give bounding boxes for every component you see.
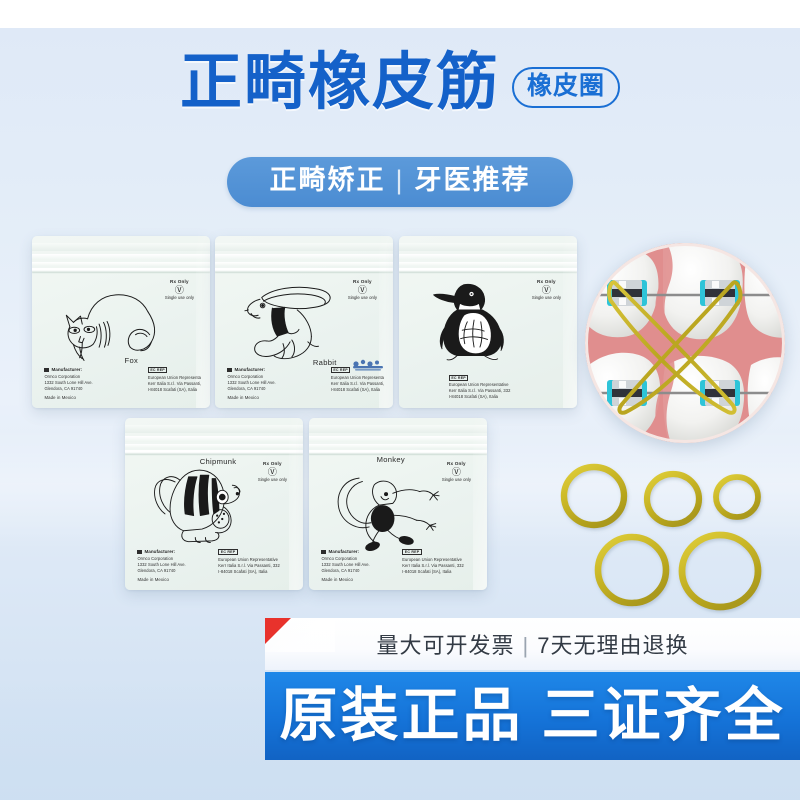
promo-strip: 量大可开发票|7天无理由退换 <box>265 618 800 670</box>
factory-icon <box>321 550 326 554</box>
elastic-band-4 <box>598 537 666 603</box>
bottom-banner: 原装正品三证齐全 <box>265 672 800 760</box>
ec-rep-heading: EC REP <box>148 367 201 373</box>
subtitle-pill: 正畸矫正|牙医推荐 <box>227 157 572 207</box>
fox-illustration <box>43 278 182 362</box>
elastic-bands-group <box>560 455 800 620</box>
title-badge: 橡皮圈 <box>512 67 620 108</box>
packet-monkey[interactable]: Rx Only Ⓥ Single use only <box>309 418 487 590</box>
subtitle-left-text: 正畸矫正 <box>269 165 385 195</box>
eu-rep-line-2: I-84018 Scafati (SA), Italia <box>449 394 570 400</box>
manufacturer-heading: Manufacturer: <box>137 549 213 554</box>
penguin-illustration <box>417 278 534 362</box>
manufacturer-line-3: Glendora, CA 91740 <box>137 568 213 574</box>
fineprint-monkey: Manufacturer: Ormco Corporation 1332 Sou… <box>321 549 478 581</box>
ec-rep-heading: EC REP <box>402 549 478 555</box>
factory-icon <box>44 368 49 372</box>
subtitle-right-text: 牙医推荐 <box>415 165 531 195</box>
bottom-banner-right: 三证齐全 <box>542 683 786 748</box>
made-in-label: Made in Mexico <box>227 395 325 400</box>
ec-rep-heading: EC REP <box>218 549 294 555</box>
manufacturer-line-3: Glendora, CA 91740 <box>321 568 397 574</box>
made-in-label: Made in Mexico <box>321 577 397 582</box>
headline-row: 正畸橡皮筋 橡皮圈 <box>180 52 620 114</box>
corner-accent-icon <box>265 618 291 644</box>
elastic-band-3 <box>716 477 758 517</box>
ec-rep-badge: EC REP <box>449 375 469 381</box>
subtitle-separator: | <box>385 165 414 195</box>
packet-face: Rx Only Ⓥ Single use only <box>399 272 577 408</box>
chipmunk-illustration <box>136 460 275 544</box>
manufacturer-column: Manufacturer: Ormco Corporation 1332 Sou… <box>321 549 397 581</box>
packet-face: Rx Only Ⓥ Single use only <box>309 454 487 590</box>
fineprint-penguin: EC REP European Union Representative Ker… <box>449 375 570 400</box>
eu-rep-column: EC REP European Union Representative Ker… <box>402 549 478 574</box>
eu-rep-column: EC REP European Union Representative Ker… <box>449 375 570 400</box>
manufacturer-heading: Manufacturer: <box>321 549 397 554</box>
eu-rep-line-2: I-84018 Scafati (SA), Italia <box>218 569 294 575</box>
promo-right-text: 7天无理由退换 <box>537 633 688 658</box>
animal-name-fox: Fox <box>125 356 139 365</box>
fineprint-chipmunk: Manufacturer: Ormco Corporation 1332 Sou… <box>137 549 294 581</box>
manufacturer-column: Manufacturer: Ormco Corporation 1332 Sou… <box>227 367 325 399</box>
factory-icon <box>137 550 142 554</box>
fineprint-rabbit: Manufacturer: Ormco Corporation 1332 Sou… <box>227 367 384 399</box>
product-ad-canvas: 正畸橡皮筋 橡皮圈 正畸矫正|牙医推荐 Rx Only Ⓥ Single use… <box>0 0 800 800</box>
packet-face: Rx Only Ⓥ Single use only <box>125 454 303 590</box>
manufacturer-column: Manufacturer: Ormco Corporation 1332 Sou… <box>44 367 142 399</box>
top-white-strip <box>0 0 800 30</box>
promo-separator: | <box>515 633 538 658</box>
animal-name-chipmunk: Chipmunk <box>200 457 237 466</box>
eu-rep-line-1: Kerr Italia S.r.l. Via Passanti, 332 <box>331 381 384 387</box>
ec-rep-badge: EC REP <box>331 367 351 373</box>
manufacturer-line-3: Glendora, CA 91740 <box>44 386 142 392</box>
rabbit-illustration <box>226 278 365 362</box>
eu-rep-column: EC REP European Union Representative Ker… <box>331 367 384 392</box>
braces-closeup-illustration <box>585 243 785 443</box>
manufacturer-label: Manufacturer: <box>144 549 175 554</box>
packet-rabbit[interactable]: Rx Only Ⓥ Single use only <box>215 236 393 408</box>
single-use-label: Single use only <box>532 295 561 300</box>
eu-rep-title: European Union Representative <box>331 375 384 381</box>
elastic-band-2 <box>647 474 699 524</box>
page-title: 正畸橡皮筋 <box>180 52 500 114</box>
monkey-illustration <box>320 468 459 552</box>
eu-rep-column: EC REP European Union Representative Ker… <box>218 549 294 574</box>
promo-text: 量大可开发票|7天无理由退换 <box>377 628 689 660</box>
manufacturer-line-3: Glendora, CA 91740 <box>227 386 325 392</box>
manufacturer-column: Manufacturer: Ormco Corporation 1332 Sou… <box>137 549 213 581</box>
eu-rep-line-1: Kerr Italia S.r.l. Via Passanti, 332 <box>148 381 201 387</box>
ec-rep-badge: EC REP <box>218 549 238 555</box>
headline-block: 正畸橡皮筋 橡皮圈 <box>0 52 800 114</box>
elastic-band-5 <box>682 535 758 607</box>
fineprint-fox: Manufacturer: Ormco Corporation 1332 Sou… <box>44 367 201 399</box>
rx-info-block: Rx Only Ⓥ Single use only <box>532 279 561 300</box>
packet-face: Rx Only Ⓥ Single use only <box>215 272 393 408</box>
packet-fox[interactable]: Rx Only Ⓥ Single use only <box>32 236 210 408</box>
made-in-label: Made in Mexico <box>137 577 213 582</box>
subtitle-block: 正畸矫正|牙医推荐 <box>0 157 800 207</box>
single-use-icon: Ⓥ <box>532 285 561 295</box>
made-in-label: Made in Mexico <box>44 395 142 400</box>
promo-left-text: 量大可开发票 <box>377 633 515 658</box>
factory-icon <box>227 368 232 372</box>
eu-rep-column: EC REP European Union Representative Ker… <box>148 367 201 392</box>
ec-rep-badge: EC REP <box>148 367 168 373</box>
eu-rep-line-2: I-84018 Scafati (SA), Italia <box>402 569 478 575</box>
manufacturer-label: Manufacturer: <box>51 367 82 372</box>
ec-rep-heading: EC REP <box>331 367 384 373</box>
ec-rep-badge: EC REP <box>402 549 422 555</box>
eu-rep-line-2: I-84018 Scafati (SA), Italia <box>148 387 201 393</box>
elastic-band-1 <box>564 467 624 525</box>
packet-penguin[interactable]: Rx Only Ⓥ Single use only <box>399 236 577 408</box>
eu-rep-line-2: I-84018 Scafati (SA), Italia <box>331 387 384 393</box>
animal-name-rabbit: Rabbit <box>313 358 337 367</box>
ec-rep-heading: EC REP <box>449 375 570 381</box>
bottom-banner-text: 原装正品三证齐全 <box>279 687 785 745</box>
manufacturer-label: Manufacturer: <box>328 549 359 554</box>
manufacturer-label: Manufacturer: <box>234 367 265 372</box>
manufacturer-heading: Manufacturer: <box>227 367 325 372</box>
manufacturer-heading: Manufacturer: <box>44 367 142 372</box>
bottom-banner-left: 原装正品 <box>279 683 523 748</box>
animal-name-monkey: Monkey <box>377 455 405 464</box>
packet-face: Rx Only Ⓥ Single use only <box>32 272 210 408</box>
packet-chipmunk[interactable]: Rx Only Ⓥ Single use only <box>125 418 303 590</box>
eu-rep-title: European Union Representative <box>148 375 201 381</box>
